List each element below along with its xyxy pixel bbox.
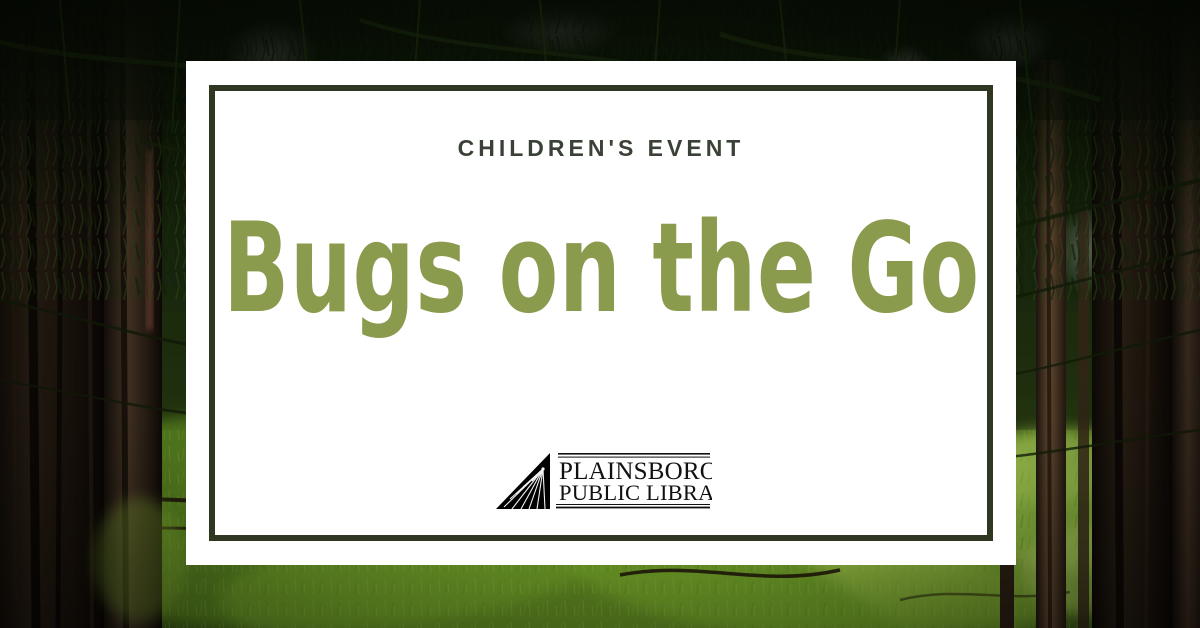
library-logo: PLAINSBORO PUBLIC LIBRARY <box>490 447 712 515</box>
page-title: Bugs on the Go <box>223 212 980 326</box>
poster-card: CHILDREN'S EVENT Bugs on the Go <box>186 61 1016 565</box>
poster-card-border-frame: CHILDREN'S EVENT Bugs on the Go <box>209 85 993 541</box>
event-poster: CHILDREN'S EVENT Bugs on the Go <box>0 0 1200 628</box>
event-category-label: CHILDREN'S EVENT <box>458 137 745 160</box>
logo-line-2: PUBLIC LIBRARY <box>559 480 712 505</box>
plainsboro-public-library-logo-graphic: PLAINSBORO PUBLIC LIBRARY <box>490 447 712 515</box>
fan-sunburst-icon <box>496 453 550 509</box>
